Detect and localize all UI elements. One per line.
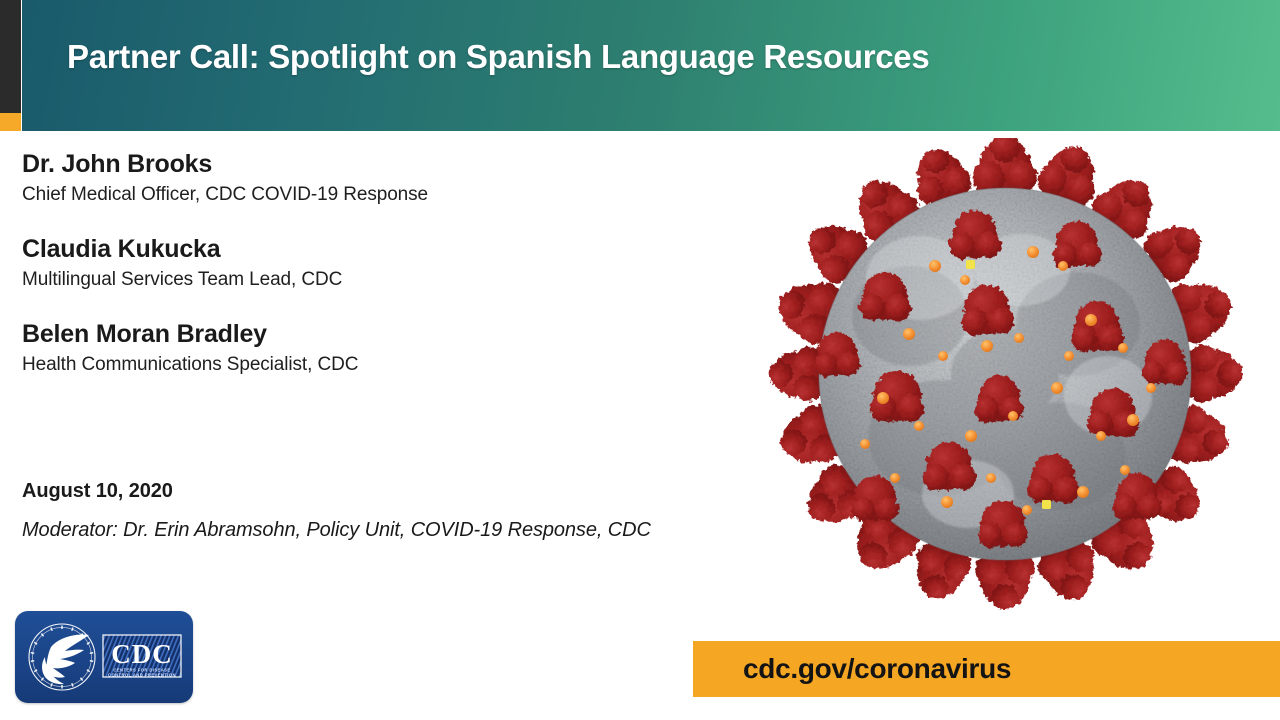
speaker-name: Dr. John Brooks bbox=[22, 150, 662, 180]
cdc-url-text: cdc.gov/coronavirus bbox=[743, 653, 1011, 685]
speaker-list: Dr. John Brooks Chief Medical Officer, C… bbox=[22, 150, 662, 406]
event-meta: August 10, 2020 Moderator: Dr. Erin Abra… bbox=[22, 480, 792, 544]
url-banner: cdc.gov/coronavirus bbox=[693, 641, 1280, 697]
svg-text:CONTROL AND PREVENTION: CONTROL AND PREVENTION bbox=[108, 673, 176, 678]
speaker-title: Health Communications Specialist, CDC bbox=[22, 353, 662, 378]
hhs-seal-icon bbox=[29, 624, 95, 690]
cdc-hhs-logo: CDC CENTERS FOR DISEASE CONTROL AND PREV… bbox=[15, 611, 193, 703]
cdc-wordmark: CDC CENTERS FOR DISEASE CONTROL AND PREV… bbox=[103, 635, 181, 678]
moderator-credit: Moderator: Dr. Erin Abramsohn, Policy Un… bbox=[22, 517, 792, 544]
list-item: Dr. John Brooks Chief Medical Officer, C… bbox=[22, 150, 662, 207]
svg-text:CDC: CDC bbox=[111, 639, 173, 669]
left-orange-accent-bar bbox=[0, 113, 21, 131]
event-date: August 10, 2020 bbox=[22, 480, 792, 503]
speaker-name: Claudia Kukucka bbox=[22, 235, 662, 265]
speaker-title: Chief Medical Officer, CDC COVID-19 Resp… bbox=[22, 183, 662, 208]
list-item: Claudia Kukucka Multilingual Services Te… bbox=[22, 235, 662, 292]
presentation-slide: Partner Call: Spotlight on Spanish Langu… bbox=[0, 0, 1280, 720]
speaker-name: Belen Moran Bradley bbox=[22, 320, 662, 350]
page-title: Partner Call: Spotlight on Spanish Langu… bbox=[67, 38, 929, 76]
slide-header-band: Partner Call: Spotlight on Spanish Langu… bbox=[22, 0, 1280, 131]
list-item: Belen Moran Bradley Health Communication… bbox=[22, 320, 662, 377]
sars-cov-2-illustration bbox=[760, 138, 1250, 610]
left-dark-accent-bar bbox=[0, 0, 21, 113]
speaker-title: Multilingual Services Team Lead, CDC bbox=[22, 268, 662, 293]
